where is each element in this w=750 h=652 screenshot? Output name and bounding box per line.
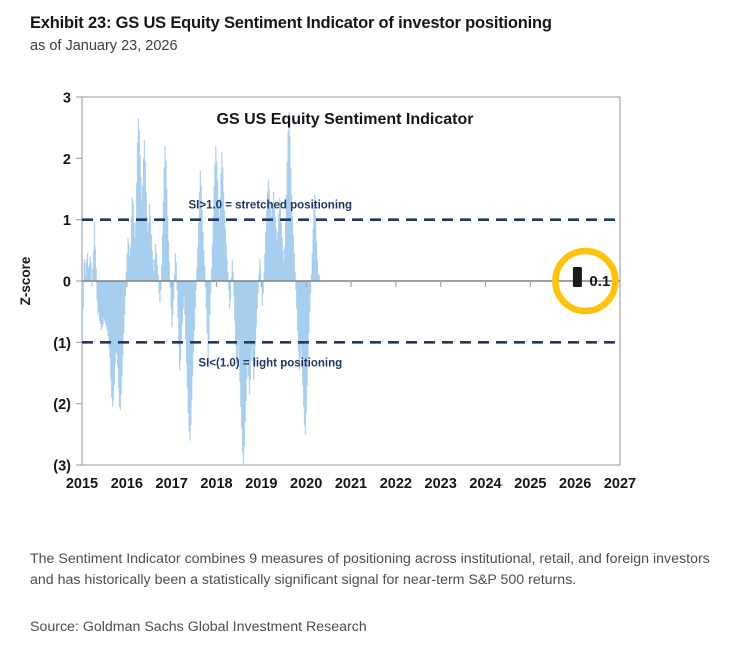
x-tick-label: 2016 bbox=[111, 476, 143, 492]
y-tick-label: (1) bbox=[53, 336, 71, 352]
x-tick-label: 2020 bbox=[290, 476, 322, 492]
x-tick-label: 2018 bbox=[200, 476, 232, 492]
y-tick-label: 3 bbox=[63, 91, 71, 107]
y-tick-label: 0 bbox=[63, 275, 71, 291]
y-tick-label: 2 bbox=[63, 152, 71, 168]
x-tick-label: 2019 bbox=[245, 476, 277, 492]
y-tick-label: (3) bbox=[53, 459, 71, 475]
x-tick-label: 2023 bbox=[425, 476, 457, 492]
source-line: Source: Goldman Sachs Global Investment … bbox=[30, 619, 367, 635]
stretched-band-label: SI>1.0 = stretched positioning bbox=[188, 199, 352, 211]
x-tick-label: 2026 bbox=[559, 476, 591, 492]
y-axis-title: Z-score bbox=[18, 256, 33, 305]
x-tick-label: 2017 bbox=[156, 476, 188, 492]
callout-value-label: 0.1 bbox=[589, 273, 610, 290]
chart-inner-title: GS US Equity Sentiment Indicator bbox=[217, 111, 474, 128]
y-tick-label: (2) bbox=[53, 397, 71, 413]
x-tick-label: 2021 bbox=[335, 476, 367, 492]
x-tick-label: 2027 bbox=[604, 476, 636, 492]
x-tick-label: 2022 bbox=[380, 476, 412, 492]
x-tick-label: 2025 bbox=[514, 476, 546, 492]
current-value-marker bbox=[573, 267, 582, 287]
y-tick-label: 1 bbox=[63, 213, 71, 229]
sentiment-indicator-chart: 3210(1)(2)(3) 20152016201720182019202020… bbox=[0, 0, 750, 510]
footer-note: The Sentiment Indicator combines 9 measu… bbox=[30, 549, 730, 590]
light-band-label: SI<(1.0) = light positioning bbox=[198, 358, 342, 370]
y-axis-ticks: 3210(1)(2)(3) bbox=[53, 91, 82, 475]
x-tick-label: 2015 bbox=[66, 476, 98, 492]
x-tick-label: 2024 bbox=[469, 476, 501, 492]
